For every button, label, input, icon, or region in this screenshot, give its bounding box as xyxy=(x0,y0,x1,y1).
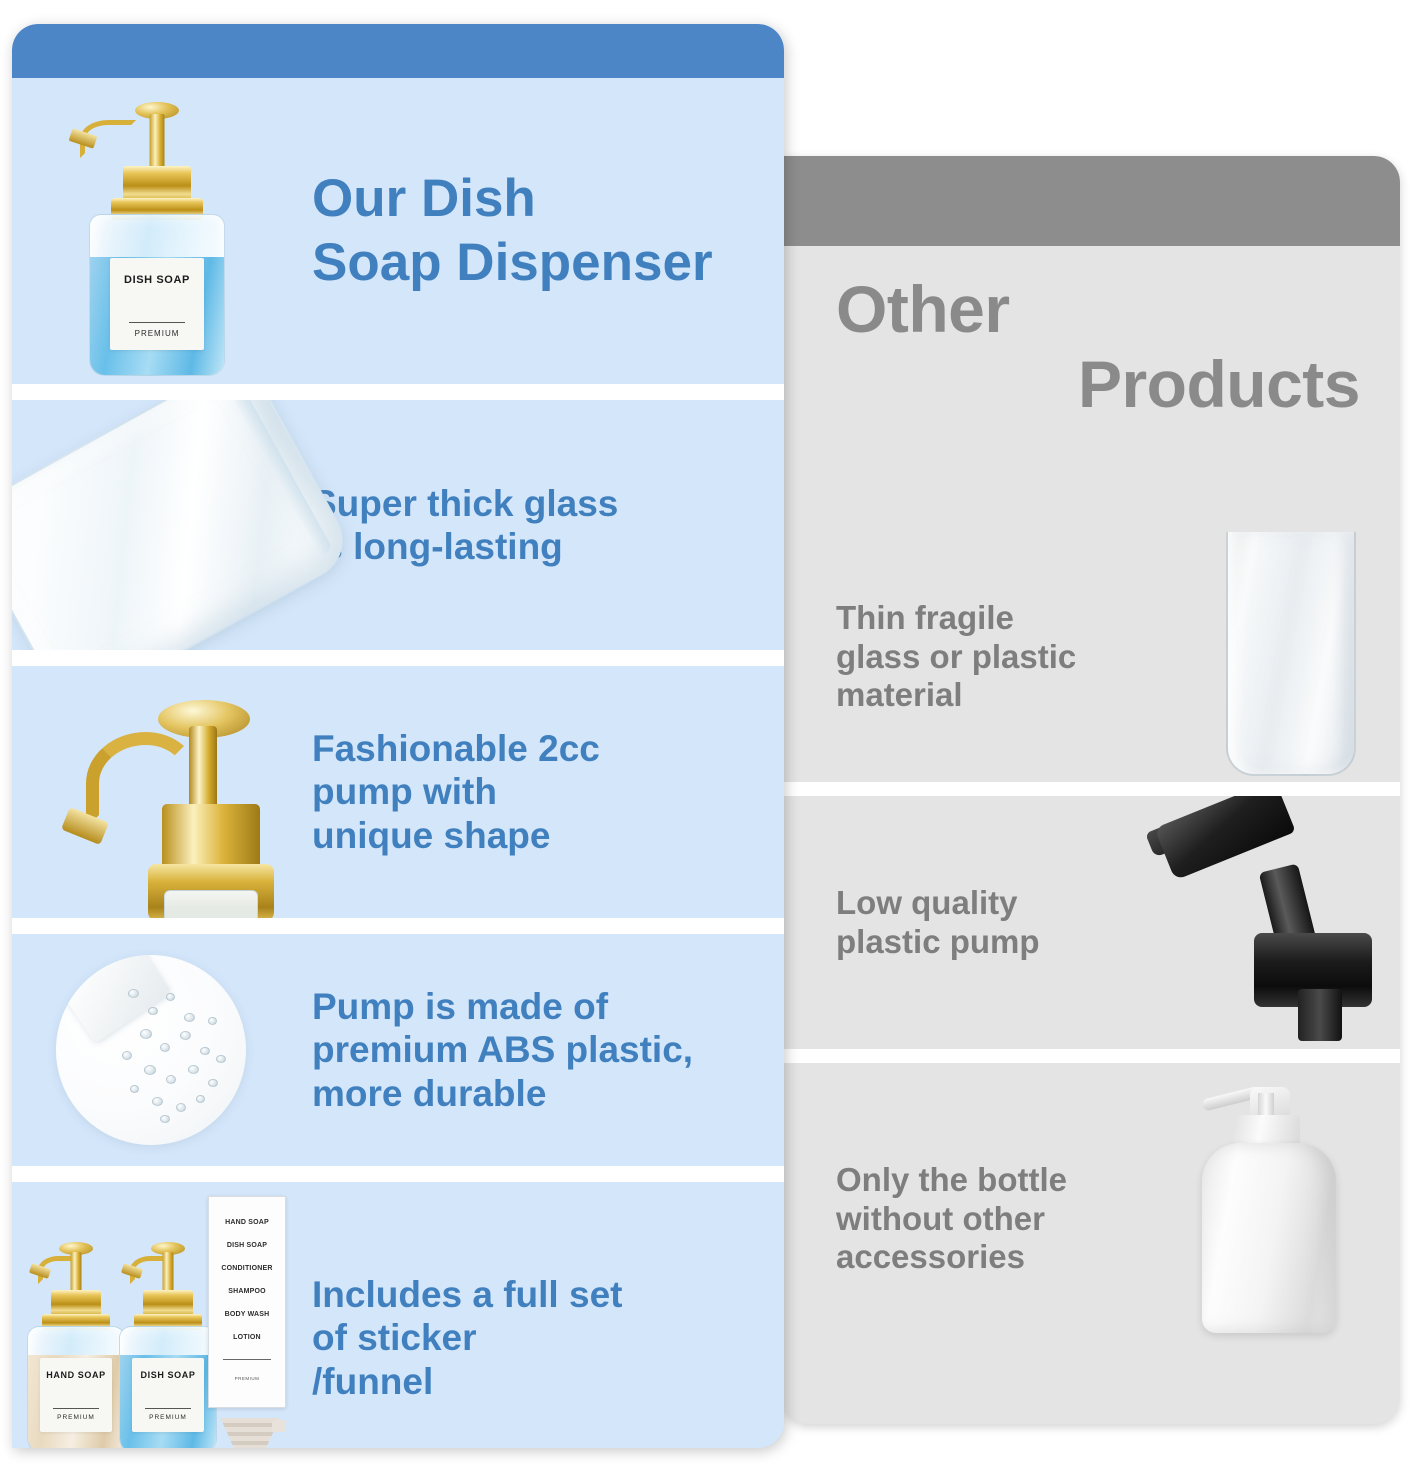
row-separator xyxy=(12,650,784,666)
our-row-2-text: Super thick glass is long-lasting xyxy=(302,482,618,569)
row-separator xyxy=(782,1049,1400,1063)
sticker-label-5: LOTION xyxy=(233,1334,261,1341)
other-row-thin-glass: Thin fragile glass or plastic material xyxy=(782,532,1400,782)
our-row-5-text: Includes a full set of sticker /funnel xyxy=(302,1273,622,1403)
hero-bottle-label: DISH SOAP xyxy=(124,274,190,286)
hero-bottle-sublabel: PREMIUM xyxy=(135,329,180,338)
sticker-label-2: CONDITIONER xyxy=(221,1265,272,1272)
our-row-sticker-set: HAND SOAP PREMIUM xyxy=(12,1182,784,1448)
sticker-label-1: DISH SOAP xyxy=(227,1242,267,1249)
thick-glass-bottom-icon xyxy=(12,400,302,650)
row-separator xyxy=(782,782,1400,796)
other-row-3-text: Only the bottle without other accessorie… xyxy=(782,1161,1142,1277)
sticker-label-0: HAND SOAP xyxy=(225,1219,269,1226)
our-product-title: Our Dish Soap Dispenser xyxy=(302,167,713,294)
other-row-bottle-only: Only the bottle without other accessorie… xyxy=(782,1063,1400,1375)
other-products-panel: Other Products Thin fragile glass or pla… xyxy=(782,156,1400,1424)
right-panel-header-bar xyxy=(782,156,1400,246)
comparison-infographic: Other Products Thin fragile glass or pla… xyxy=(0,0,1415,1468)
dish-soap-bottle-sublabel: PREMIUM xyxy=(149,1414,187,1421)
other-row-2-text: Low quality plastic pump xyxy=(782,884,1142,961)
dish-soap-dispenser-bottle-icon: DISH SOAP PREMIUM xyxy=(12,78,302,384)
other-row-plastic-pump: Low quality plastic pump xyxy=(782,796,1400,1049)
our-row-thick-glass: Super thick glass is long-lasting xyxy=(12,400,784,650)
our-row-hero: DISH SOAP PREMIUM Our Dish Soap Dispense… xyxy=(12,78,784,384)
row-separator xyxy=(12,918,784,934)
sticker-sheet-footer: PREMIUM xyxy=(235,1376,260,1381)
our-product-rows: DISH SOAP PREMIUM Our Dish Soap Dispense… xyxy=(12,78,784,1448)
our-row-pump: Fashionable 2cc pump with unique shape xyxy=(12,666,784,918)
other-products-title-line2: Products xyxy=(836,347,1366,422)
black-plastic-pump-icon xyxy=(1150,796,1400,1049)
our-row-abs-plastic: Pump is made of premium ABS plastic, mor… xyxy=(12,934,784,1166)
dish-soap-bottle-label: DISH SOAP xyxy=(141,1370,196,1380)
other-products-title: Other Products xyxy=(782,252,1400,520)
sticker-sheet: HAND SOAP DISH SOAP CONDITIONER SHAMPOO … xyxy=(208,1196,286,1408)
sticker-label-3: SHAMPOO xyxy=(228,1288,266,1295)
bottles-sticker-funnel-set-icon: HAND SOAP PREMIUM xyxy=(12,1182,302,1448)
our-row-4-text: Pump is made of premium ABS plastic, mor… xyxy=(302,985,693,1115)
other-row-1-text: Thin fragile glass or plastic material xyxy=(782,599,1142,715)
collapsible-funnel-icon xyxy=(218,1418,282,1448)
hand-soap-bottle-label: HAND SOAP xyxy=(46,1370,105,1380)
plain-white-bottle-icon xyxy=(1150,1063,1400,1375)
hand-soap-bottle-sublabel: PREMIUM xyxy=(57,1414,95,1421)
thin-clear-glass-jar-icon xyxy=(1150,532,1400,782)
gold-pump-closeup-icon xyxy=(12,666,302,918)
left-panel-header-bar xyxy=(12,24,784,78)
other-products-rows: Thin fragile glass or plastic material L… xyxy=(782,532,1400,1375)
our-product-panel: DISH SOAP PREMIUM Our Dish Soap Dispense… xyxy=(12,24,784,1448)
row-separator xyxy=(12,384,784,400)
sticker-label-4: BODY WASH xyxy=(225,1311,270,1318)
row-separator xyxy=(12,1166,784,1182)
our-row-3-text: Fashionable 2cc pump with unique shape xyxy=(302,727,600,857)
other-products-title-line1: Other xyxy=(836,272,1366,347)
abs-plastic-pellets-icon xyxy=(12,934,302,1166)
